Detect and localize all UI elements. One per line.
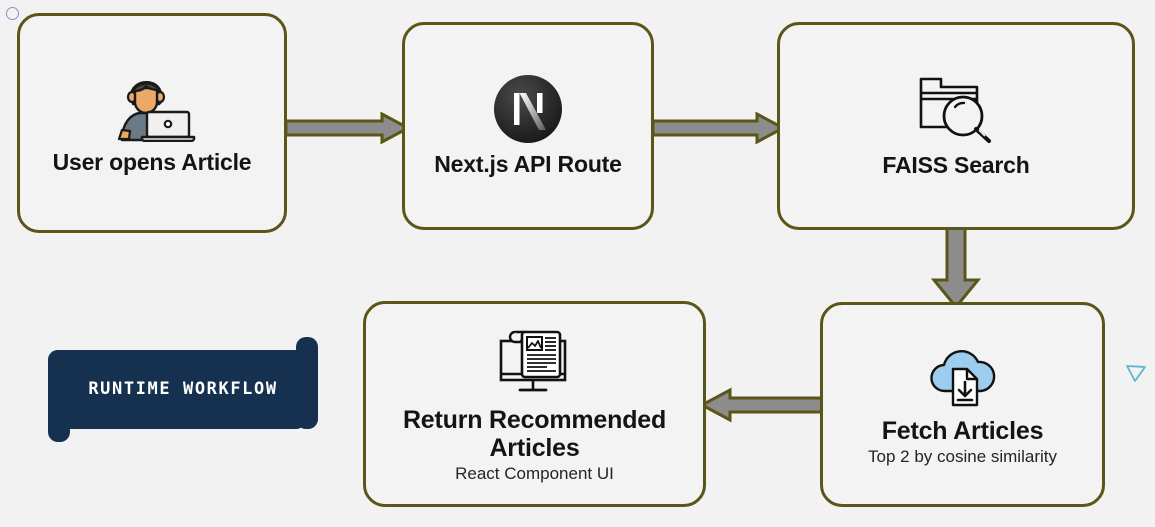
triangle-icon (1126, 364, 1146, 382)
node-title: Next.js API Route (434, 152, 621, 178)
arrow-faiss-to-fetch (930, 226, 982, 310)
newspaper-monitor-icon (489, 324, 581, 398)
node-user-opens-article[interactable]: User opens Article (17, 13, 287, 233)
nextjs-logo-icon (493, 74, 563, 144)
arrow-fetch-to-return (698, 387, 828, 423)
node-title: Return Recommended Articles (376, 406, 693, 462)
arrow-user-to-api (284, 112, 410, 144)
node-subtitle: React Component UI (455, 464, 614, 484)
ribbon-shape (48, 337, 318, 442)
canvas-triangle-marker (1126, 364, 1146, 382)
folder-search-icon (913, 73, 999, 145)
cloud-download-icon (925, 343, 1001, 409)
runtime-workflow-banner: RUNTIME WORKFLOW (48, 337, 318, 442)
node-title: FAISS Search (882, 153, 1029, 179)
node-subtitle: Top 2 by cosine similarity (868, 447, 1057, 467)
diagram-canvas: User opens Article (0, 0, 1155, 527)
node-return-recommended-articles[interactable]: Return Recommended Articles React Compon… (363, 301, 706, 507)
node-nextjs-api-route[interactable]: Next.js API Route (402, 22, 654, 230)
node-faiss-search[interactable]: FAISS Search (777, 22, 1135, 230)
node-title: User opens Article (53, 150, 252, 176)
node-title: Fetch Articles (882, 417, 1044, 445)
person-at-laptop-icon (105, 70, 199, 142)
node-fetch-articles[interactable]: Fetch Articles Top 2 by cosine similarit… (820, 302, 1105, 507)
arrow-api-to-faiss (651, 112, 785, 144)
canvas-circle-marker (6, 7, 19, 20)
